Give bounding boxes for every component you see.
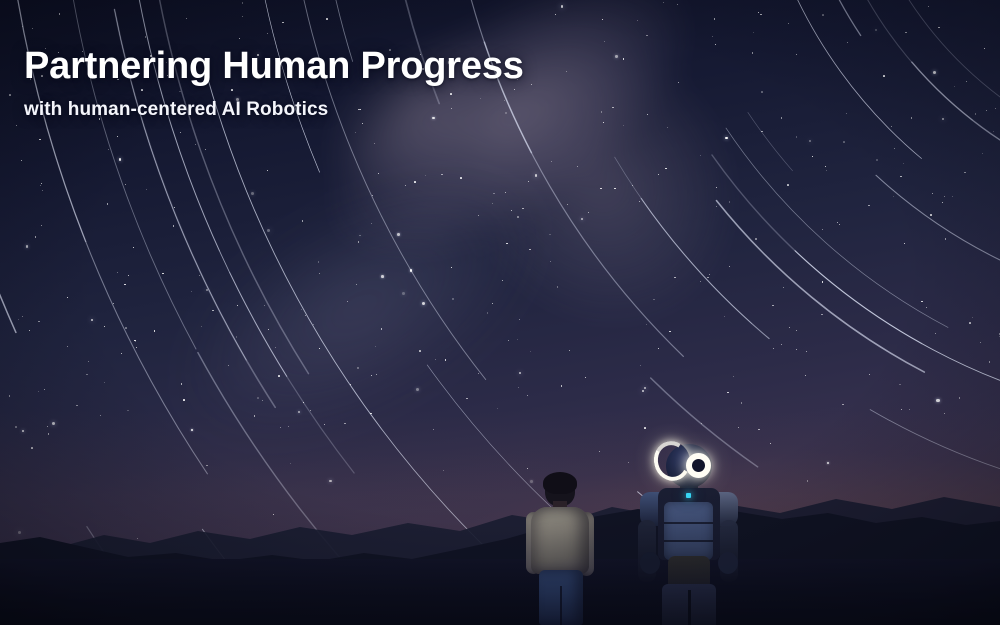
- robot-panel-seam: [664, 540, 713, 542]
- circular-lens-icon: [686, 453, 711, 478]
- humanoid-robot: [622, 440, 754, 625]
- page-title: Partnering Human Progress: [24, 46, 524, 87]
- hero-copy-block: Partnering Human Progress with human-cen…: [24, 46, 524, 121]
- human-figure: [517, 474, 601, 625]
- page-subtitle: with human-centered AI Robotics: [24, 99, 524, 121]
- human-leg-divider: [560, 586, 562, 625]
- robot-hip-right: [718, 552, 738, 574]
- ground-plain: [0, 559, 1000, 625]
- robot-hip-left: [640, 552, 660, 574]
- robot-back-panel: [664, 502, 713, 560]
- human-torso-sweater: [531, 507, 589, 574]
- robot-panel-seam: [664, 522, 713, 524]
- robot-leg-divider: [688, 590, 691, 625]
- status-led-icon: [686, 493, 691, 498]
- human-hair: [543, 472, 577, 494]
- hero-banner: Partnering Human Progress with human-cen…: [0, 0, 1000, 625]
